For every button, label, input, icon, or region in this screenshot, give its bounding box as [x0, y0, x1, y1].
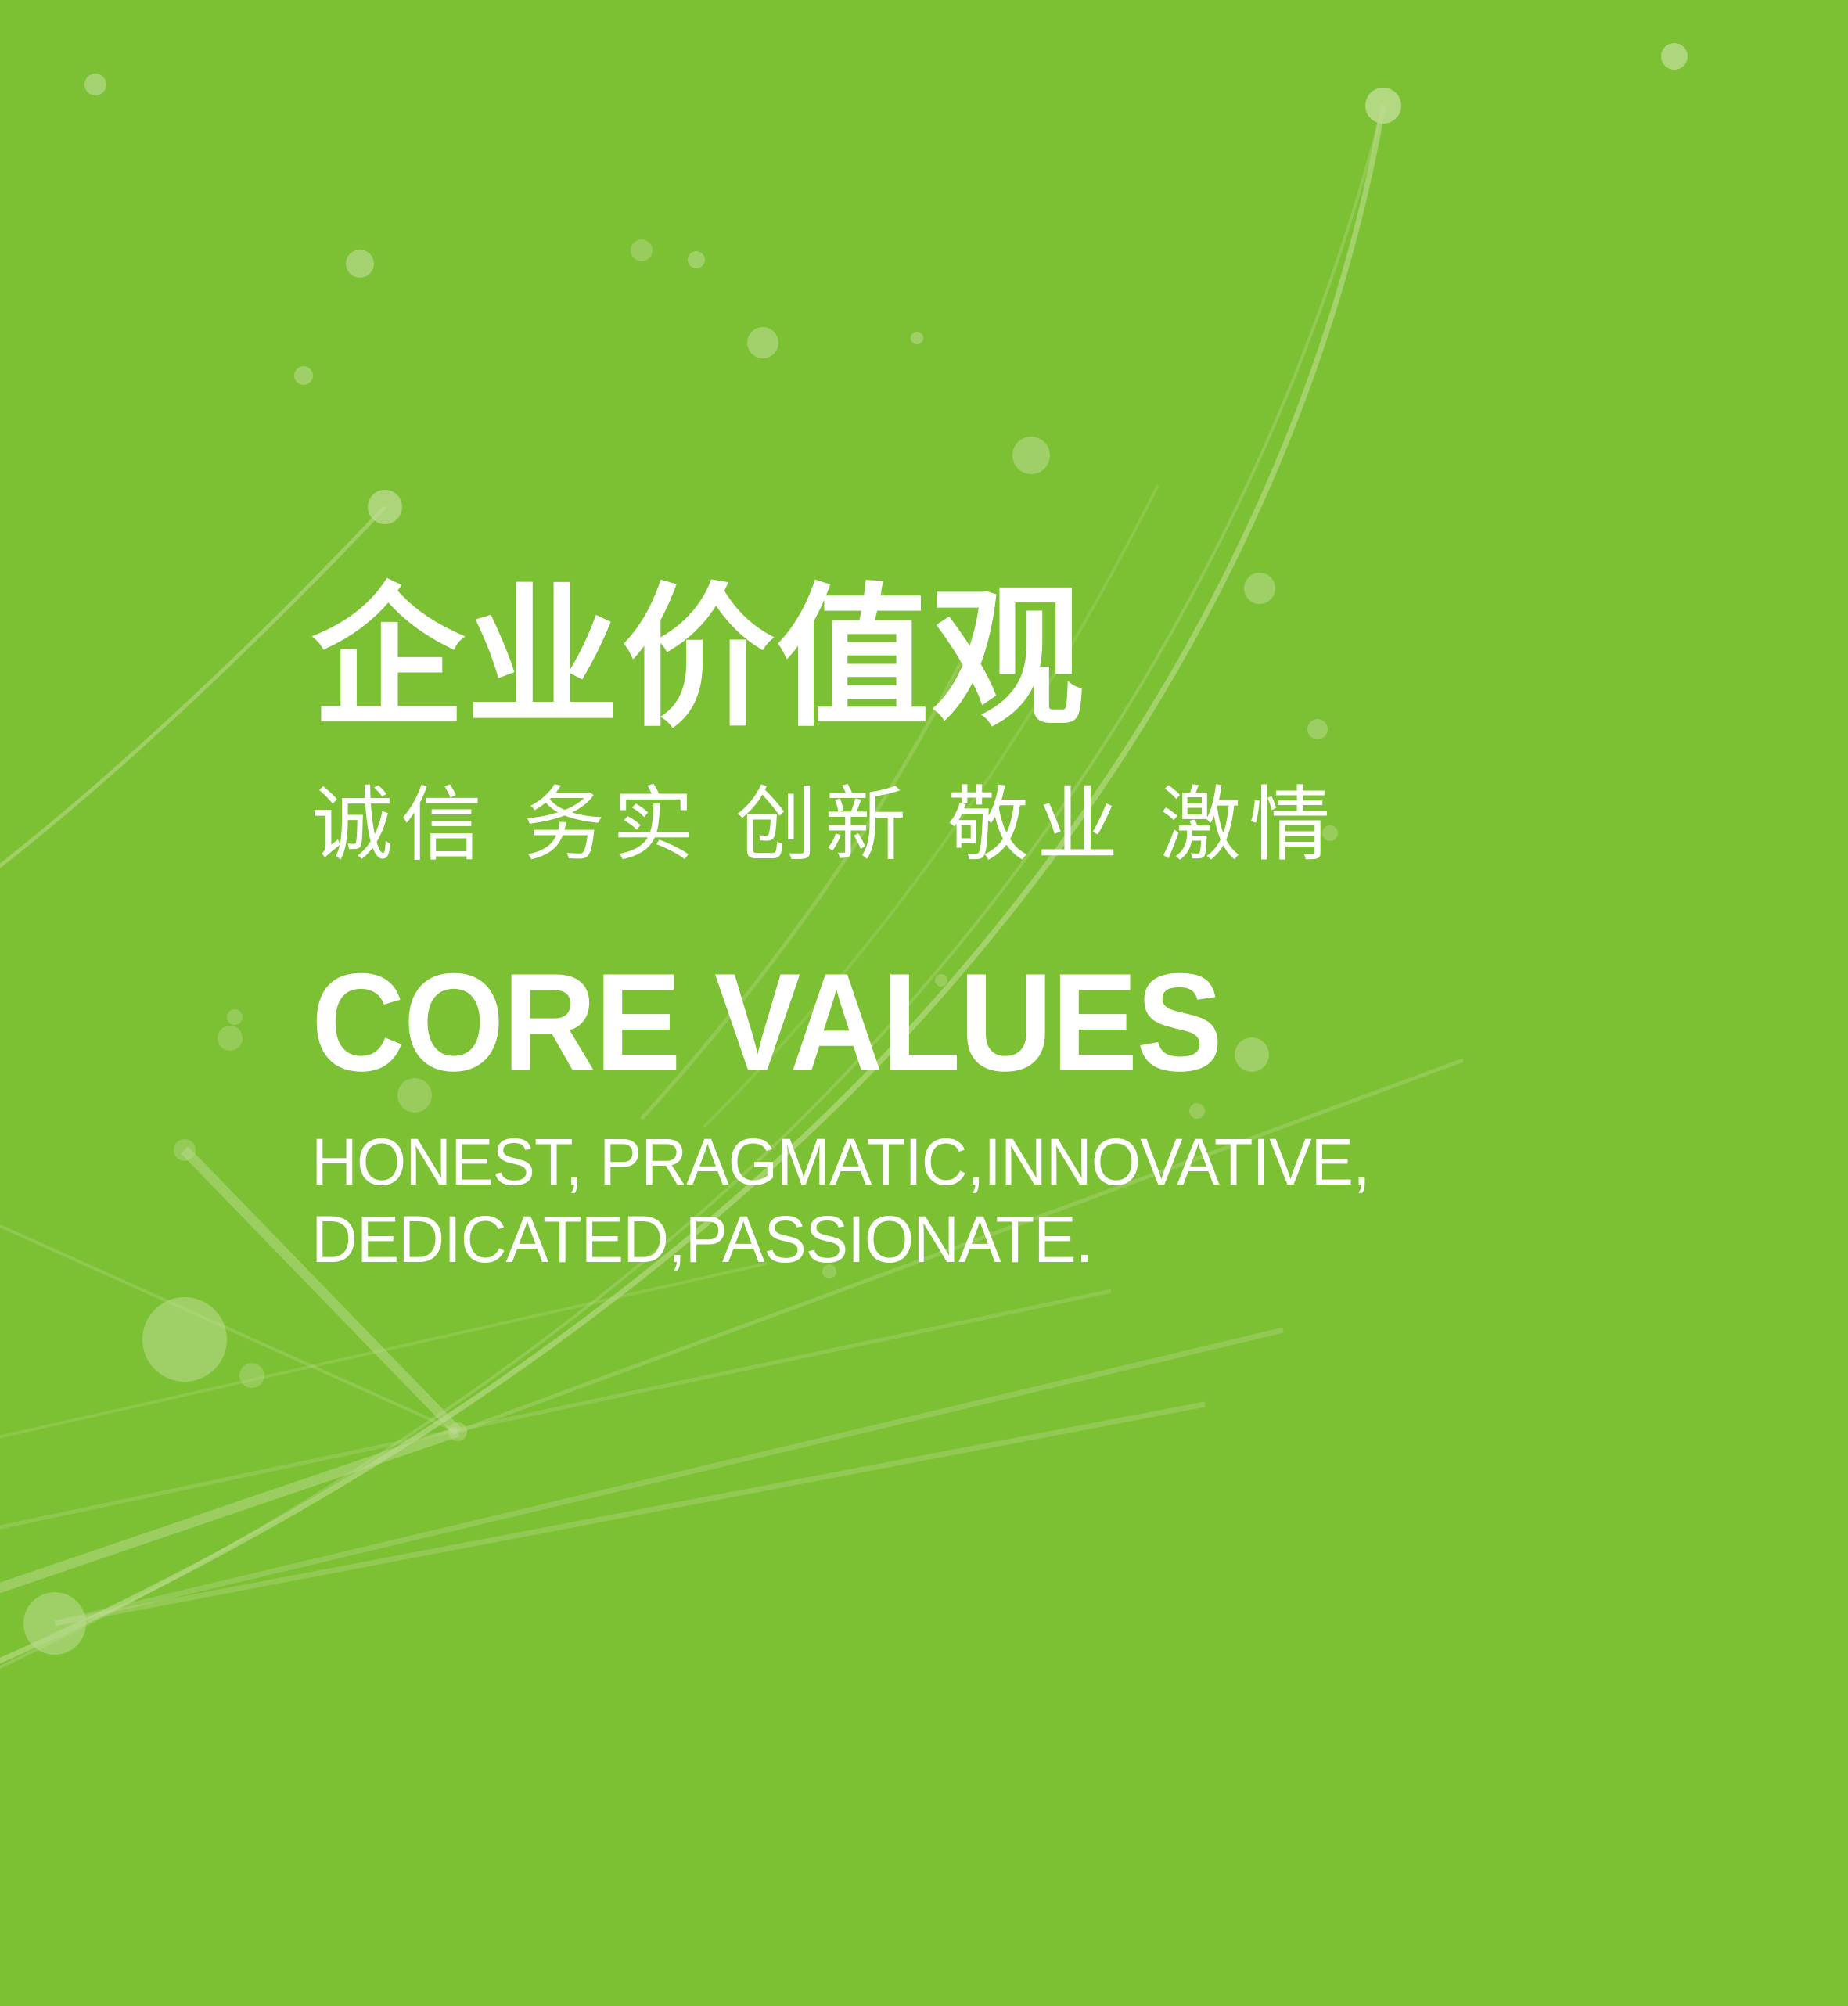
- network-node: [368, 490, 402, 524]
- network-node: [911, 332, 923, 344]
- chinese-values-line: 诚信 务实 创新 敬业 激情: [311, 735, 1720, 865]
- network-node: [227, 1009, 243, 1025]
- poster-text-block: 企业价值观 诚信 务实 创新 敬业 激情 CORE VALUES HONEST,…: [311, 582, 1720, 1278]
- network-node: [346, 250, 374, 278]
- network-node: [448, 1422, 467, 1441]
- english-values-line-2: DEDICATED,PASSIONATE.: [311, 1201, 1677, 1278]
- chinese-title: 企业价值观: [311, 582, 1720, 735]
- network-node: [174, 1139, 196, 1161]
- english-values-line-1: HONEST, PRAGMATIC,INNOVATIVE,: [311, 1123, 1677, 1201]
- network-node: [1365, 88, 1401, 124]
- english-values-block: HONEST, PRAGMATIC,INNOVATIVE, DEDICATED,…: [311, 1092, 1677, 1278]
- core-values-poster: 企业价值观 诚信 务实 创新 敬业 激情 CORE VALUES HONEST,…: [0, 0, 1848, 2006]
- network-node: [688, 251, 705, 268]
- network-node: [218, 1026, 243, 1051]
- network-node: [631, 239, 653, 261]
- network-node: [1661, 43, 1688, 70]
- english-title: CORE VALUES: [311, 865, 1621, 1092]
- network-node: [1012, 437, 1050, 474]
- network-node: [239, 1363, 264, 1388]
- network-node: [23, 1592, 86, 1655]
- network-node: [294, 366, 313, 385]
- network-node: [84, 74, 106, 95]
- network-node: [747, 327, 778, 358]
- network-node: [142, 1297, 227, 1382]
